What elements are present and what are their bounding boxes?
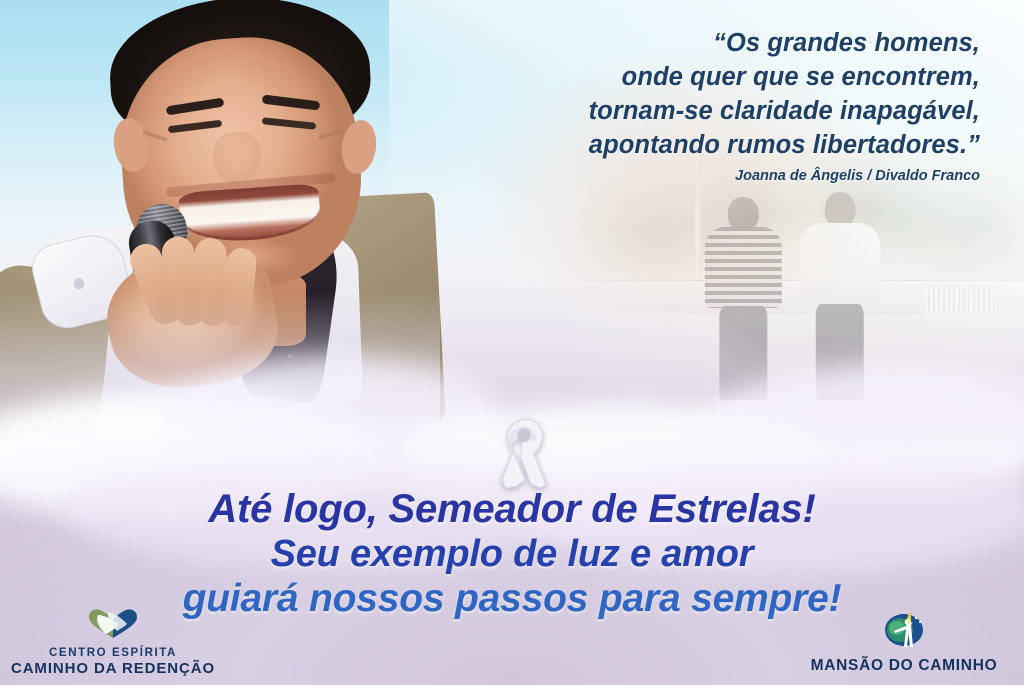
headline-line-1: Até logo, Semeador de Estrelas! — [0, 486, 1024, 532]
quote-line-1: “Os grandes homens, — [400, 26, 980, 60]
headline: Até logo, Semeador de Estrelas! Seu exem… — [0, 486, 1024, 621]
logo-right-line-1: MANSÃO DO CAMINHO — [794, 657, 1014, 675]
photo-person-white-shirt — [800, 192, 881, 400]
quote-text: “Os grandes homens, onde quer que se enc… — [400, 26, 980, 162]
logo-centro-espirita: CENTRO ESPÍRITA CAMINHO DA REDENÇÃO — [8, 607, 218, 677]
quote-line-4: apontando rumos libertadores.” — [400, 128, 980, 162]
logo-left-line-2: CAMINHO DA REDENÇÃO — [8, 660, 218, 677]
hands-heart-icon — [8, 607, 218, 644]
quote-attribution: Joanna de Ângelis / Divaldo Franco — [400, 168, 980, 184]
logo-left-line-1: CENTRO ESPÍRITA — [8, 647, 218, 660]
faded-photo — [575, 150, 1024, 410]
cuff-button — [74, 278, 84, 288]
logo-mansao-do-caminho: MANSÃO DO CAMINHO — [794, 609, 1014, 675]
globe-figure-torch-icon — [794, 609, 1014, 654]
headline-line-2: Seu exemplo de luz e amor — [0, 532, 1024, 576]
quote-line-2: onde quer que se encontrem, — [400, 60, 980, 94]
portrait-photo — [0, 0, 420, 462]
quote-line-3: tornam-se claridade inapagável, — [400, 94, 980, 128]
mourning-ribbon-icon — [487, 414, 561, 490]
photo-person-striped-shirt — [705, 197, 781, 400]
memorial-card: “Os grandes homens, onde quer que se enc… — [0, 0, 1024, 685]
